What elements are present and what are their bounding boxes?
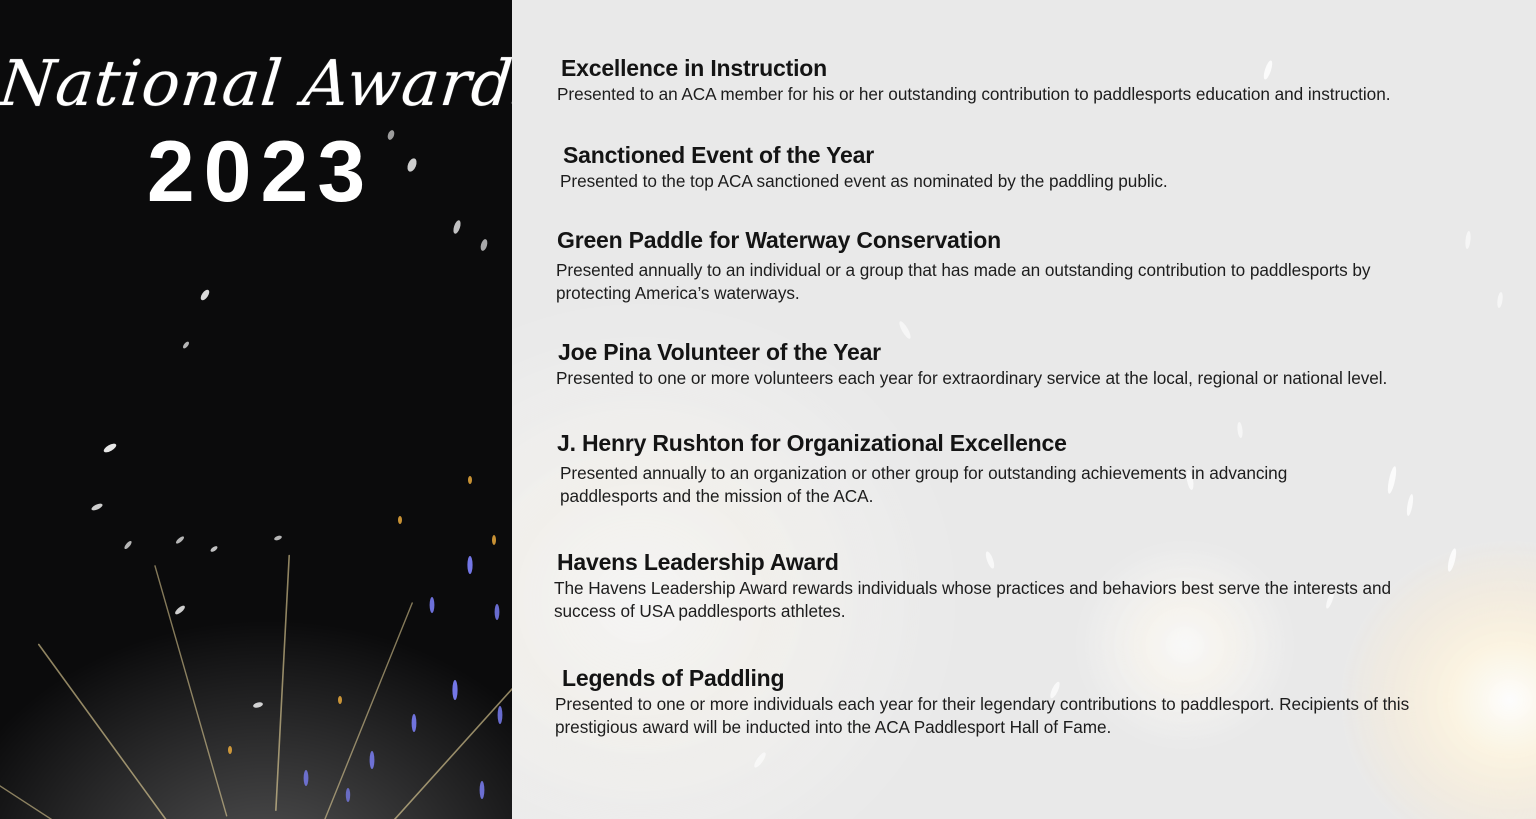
award-description: Presented to one or more individuals eac… — [546, 693, 1458, 739]
award-item: Havens Leadership Award The Havens Leade… — [546, 549, 1496, 623]
left-title-panel: National Awards 2023 — [0, 0, 512, 819]
award-description: Presented to the top ACA sanctioned even… — [546, 170, 1496, 193]
awards-slide: National Awards 2023 — [0, 0, 1536, 819]
award-item: Legends of Paddling Presented to one or … — [546, 665, 1496, 739]
awards-list: Excellence in Instruction Presented to a… — [546, 55, 1496, 739]
award-title: Sanctioned Event of the Year — [546, 142, 1496, 169]
award-title: Green Paddle for Waterway Conservation — [546, 227, 1496, 254]
award-title: J. Henry Rushton for Organizational Exce… — [546, 430, 1496, 457]
award-title: Havens Leadership Award — [546, 549, 1496, 576]
award-item: Joe Pina Volunteer of the Year Presented… — [546, 339, 1496, 390]
awards-content-panel: Excellence in Instruction Presented to a… — [512, 0, 1536, 819]
award-item: Sanctioned Event of the Year Presented t… — [546, 142, 1496, 193]
award-title: Legends of Paddling — [546, 665, 1496, 692]
award-item: Excellence in Instruction Presented to a… — [546, 55, 1496, 106]
award-title: Excellence in Instruction — [546, 55, 1496, 82]
award-item: J. Henry Rushton for Organizational Exce… — [546, 430, 1496, 508]
award-title: Joe Pina Volunteer of the Year — [546, 339, 1496, 366]
award-description: Presented annually to an individual or a… — [546, 259, 1441, 305]
fireworks-burst-image — [0, 0, 512, 819]
award-description: The Havens Leadership Award rewards indi… — [546, 577, 1451, 623]
award-description: Presented annually to an organization or… — [546, 462, 1381, 508]
award-description: Presented to one or more volunteers each… — [546, 367, 1434, 390]
award-item: Green Paddle for Waterway Conservation P… — [546, 227, 1496, 305]
award-description: Presented to an ACA member for his or he… — [546, 83, 1391, 106]
